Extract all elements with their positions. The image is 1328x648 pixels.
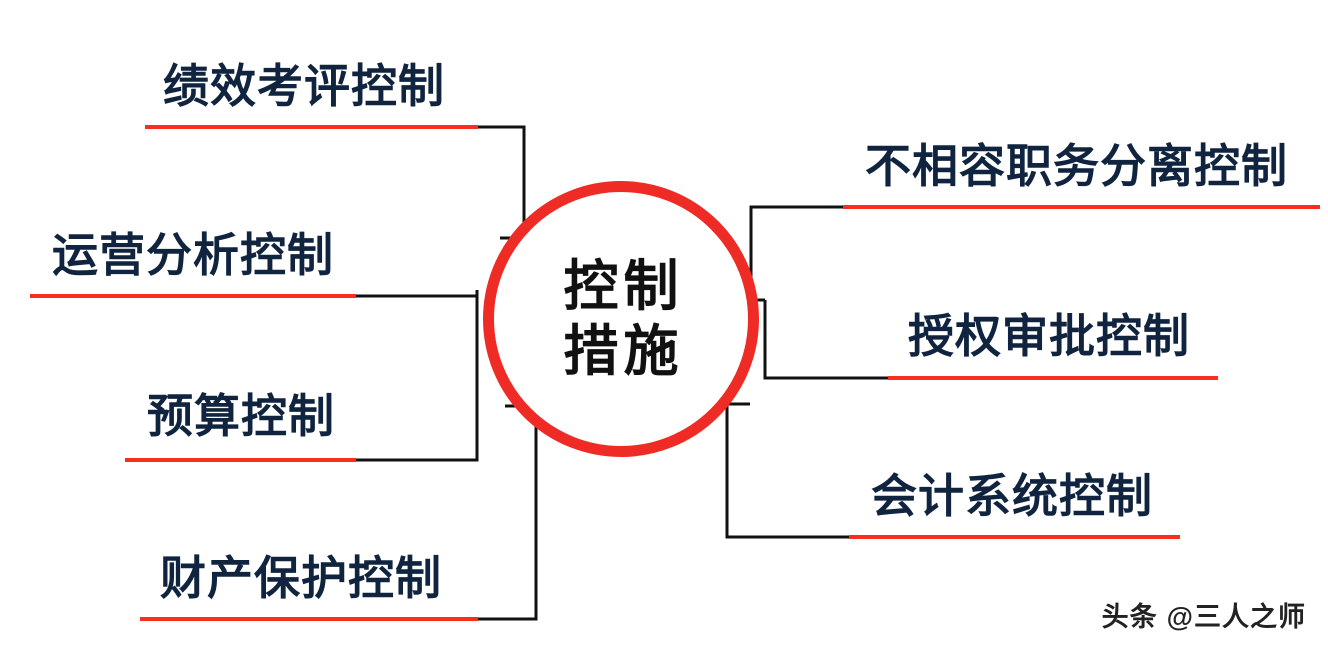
- center-node-line2: 措施: [558, 319, 683, 384]
- mindmap-canvas: 绩效考评控制 运营分析控制 预算控制 财产保护控制 不相容职务分离控制 授权审批…: [0, 0, 1328, 648]
- watermark-account-name: @三人之师: [1167, 595, 1306, 634]
- watermark: 头条 @三人之师: [1102, 595, 1306, 634]
- center-node-line1: 控制: [558, 254, 683, 319]
- watermark-logo: 头条: [1102, 595, 1158, 634]
- center-node-control-measures[interactable]: 控制 措施: [483, 181, 759, 457]
